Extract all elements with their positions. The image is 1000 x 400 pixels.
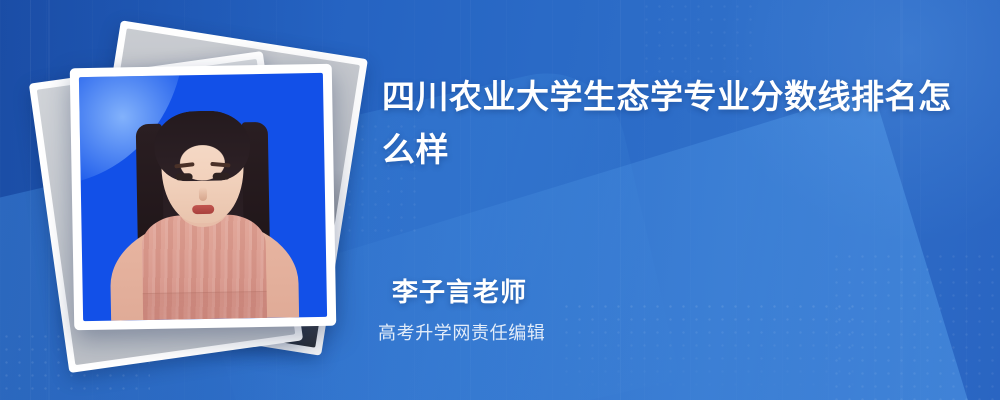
headline-block: 四川农业大学生态学专业分数线排名怎么样	[382, 70, 962, 176]
portrait-nose	[199, 187, 207, 201]
page-title: 四川农业大学生态学专业分数线排名怎么样	[382, 70, 962, 176]
author-name: 李子言老师	[392, 272, 545, 309]
portrait-dress	[141, 214, 267, 320]
byline-block: 李子言老师 高考升学网责任编辑	[392, 272, 545, 345]
author-photo-frame	[70, 64, 337, 331]
portrait-hair-front	[154, 110, 251, 182]
portrait-lips	[192, 205, 214, 214]
portrait-illustration	[79, 73, 327, 321]
article-header-banner: 四川农业大学生态学专业分数线排名怎么样 李子言老师 高考升学网责任编辑	[0, 0, 1000, 400]
portrait-eye-right	[213, 173, 230, 180]
author-role: 高考升学网责任编辑	[378, 319, 545, 345]
author-photo	[79, 73, 327, 321]
portrait-eye-left	[176, 173, 193, 180]
background-dot-grid	[830, 250, 1000, 400]
background-dot-grid	[560, 300, 860, 400]
author-photo-stack	[52, 40, 362, 360]
